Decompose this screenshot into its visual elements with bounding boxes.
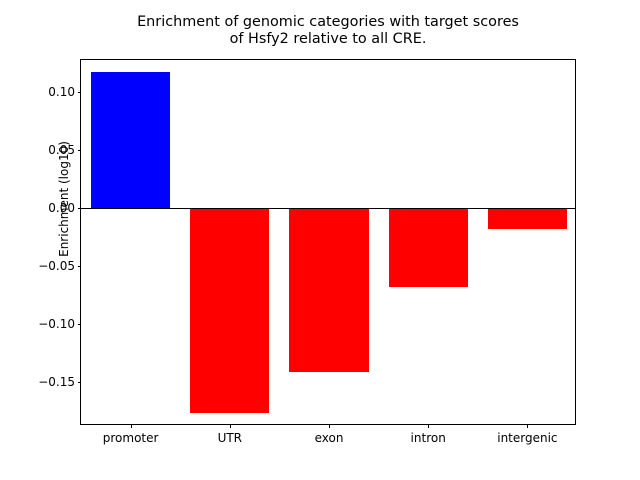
y-tick-mark [78,382,82,383]
y-tick-label: −0.05 [38,259,75,273]
y-tick-label: −0.15 [38,375,75,389]
zero-baseline [81,208,575,209]
chart-title: Enrichment of genomic categories with ta… [80,14,576,48]
y-tick-label: 0.00 [48,201,75,215]
bar-exon [289,208,368,371]
y-tick-label: 0.10 [48,85,75,99]
x-tick-mark [230,424,231,428]
figure-canvas: Enrichment of genomic categories with ta… [0,0,640,480]
x-tick-mark [131,424,132,428]
x-tick-mark [329,424,330,428]
y-tick-mark [78,266,82,267]
x-tick-label-intergenic: intergenic [497,431,557,445]
x-tick-label-promoter: promoter [103,431,159,445]
bars-layer [81,60,575,424]
y-tick-mark [78,92,82,93]
x-tick-mark [428,424,429,428]
plot-area: 0.100.050.00−0.05−0.10−0.15 promoterUTRe… [80,59,576,425]
bar-promoter [91,72,170,209]
x-tick-mark [527,424,528,428]
x-tick-label-intron: intron [411,431,446,445]
y-tick-label: 0.05 [48,143,75,157]
bar-intron [389,208,468,287]
y-tick-mark [78,324,82,325]
x-tick-label-UTR: UTR [218,431,242,445]
y-tick-label: −0.10 [38,317,75,331]
x-tick-label-exon: exon [315,431,344,445]
bar-UTR [190,208,269,413]
y-tick-mark [78,150,82,151]
bar-intergenic [488,208,567,229]
